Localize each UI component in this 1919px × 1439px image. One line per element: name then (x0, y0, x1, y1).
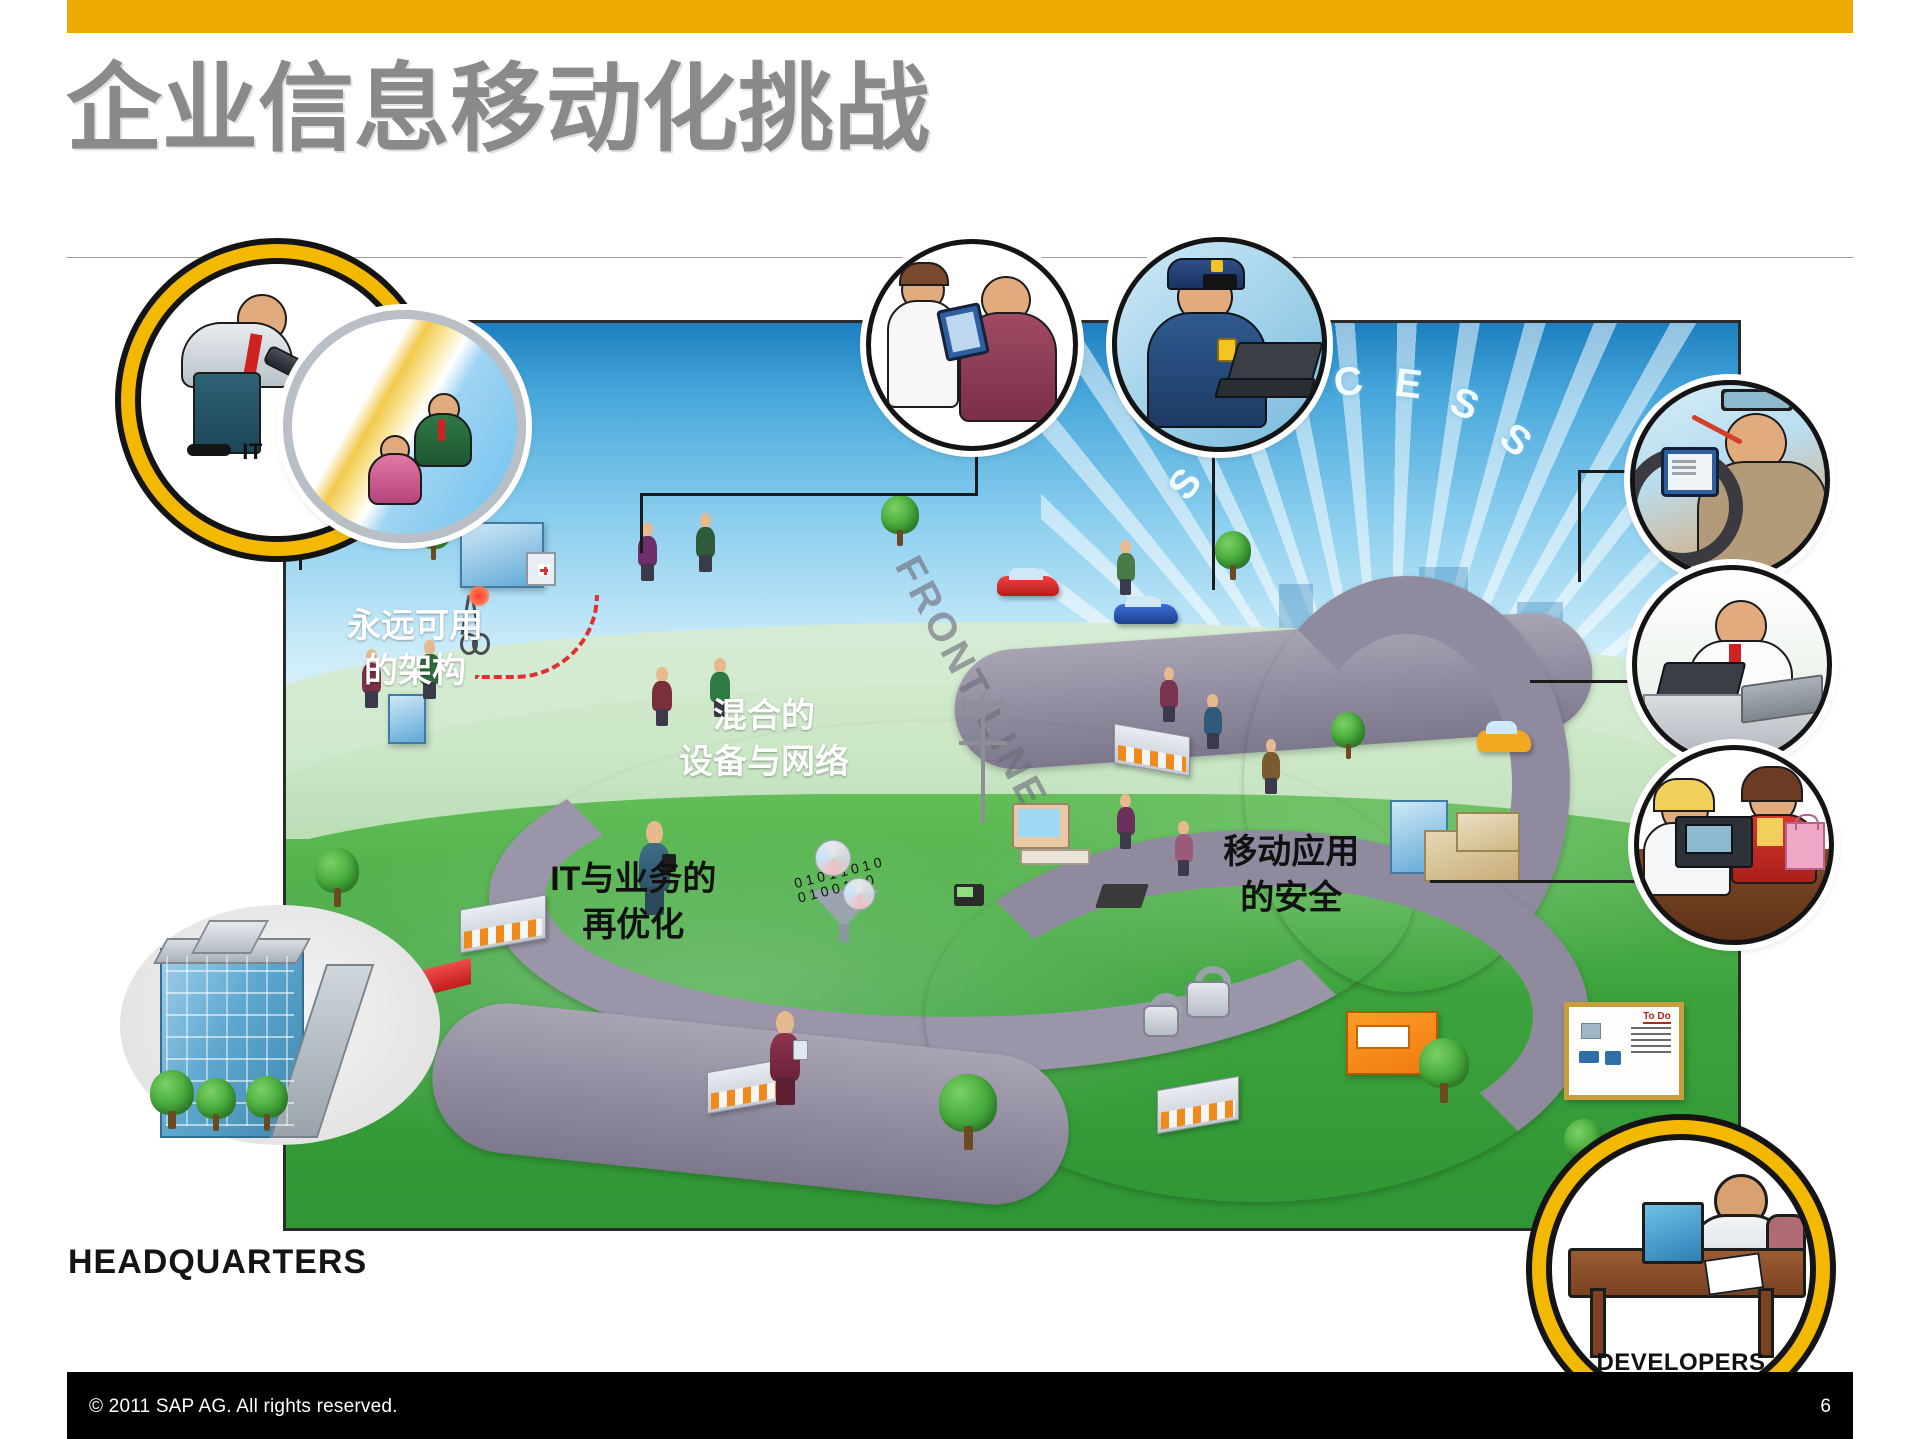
label-it-business-reoptimization: IT与业务的 再优化 (518, 857, 748, 949)
whiteboard: To Do (1564, 1002, 1684, 1100)
bubble-warehouse-worker[interactable] (1632, 565, 1832, 765)
connector-healthcare-drop (640, 493, 643, 553)
page-number: 6 (1820, 1396, 1831, 1418)
crowd-person (1114, 540, 1138, 594)
police-car (1114, 604, 1178, 624)
red-sports-car (997, 576, 1059, 596)
crowd-person (1259, 739, 1283, 793)
connector-healthcare-horizontal (640, 493, 978, 496)
bubble-police[interactable] (1112, 237, 1327, 452)
desk-leg-right (1758, 1288, 1774, 1358)
mobile-field-worker (765, 1011, 805, 1103)
page-title: 企业信息移动化挑战 (66, 60, 930, 161)
magnified-person-green (412, 393, 470, 465)
tree (1331, 712, 1365, 758)
tree (246, 1076, 288, 1130)
bubble-developers[interactable]: DEVELOPERS (1546, 1134, 1816, 1404)
crowd-person (634, 522, 660, 580)
label-mixed-devices-networks: 混合的 设备与网络 (649, 694, 879, 786)
headquarters-label: HEADQUARTERS (68, 1243, 367, 1282)
tree (196, 1078, 236, 1130)
crowd-person (1157, 667, 1181, 721)
bubble-magnifier[interactable] (283, 310, 526, 543)
small-office-building (388, 694, 426, 744)
cd-disc-top (815, 840, 851, 876)
top-accent-bar (67, 0, 1853, 33)
pda-device (954, 884, 984, 906)
crowd-person (693, 513, 719, 571)
padlock-small (1143, 993, 1175, 1037)
label-mobile-app-security: 移动应用 的安全 (1186, 830, 1396, 922)
pos-terminal (1675, 816, 1753, 868)
bubble-retail-checkout[interactable] (1634, 745, 1834, 945)
distribution-center (1390, 794, 1520, 890)
delivery-truck (1477, 730, 1531, 752)
shopping-bag (1785, 822, 1825, 870)
tree (1215, 531, 1251, 579)
laptop-device (1095, 884, 1149, 908)
padlock-large (1186, 966, 1226, 1018)
magnified-person-pink (366, 435, 420, 503)
label-always-on-architecture: 永远可用 的架构 (315, 604, 515, 696)
slide-footer: © 2011 SAP AG. All rights reserved. 6 (67, 1372, 1853, 1439)
tree (881, 495, 919, 545)
tree (939, 1074, 997, 1148)
whiteboard-heading: To Do (1643, 1011, 1671, 1024)
desk-leg-left (1590, 1288, 1606, 1358)
connector-police (1212, 438, 1215, 590)
copyright-text: © 2011 SAP AG. All rights reserved. (89, 1396, 398, 1418)
cell-tower (954, 694, 1012, 824)
rearview-mirror (1721, 389, 1793, 411)
tree (315, 848, 359, 906)
data-funnel: 0 1 0 1 1 0 1 0 0 1 0 0 1 1 0 (809, 866, 879, 934)
police-laptop (1217, 342, 1313, 394)
slide-canvas: 企业信息移动化挑战 S U C C E S S (0, 0, 1919, 1439)
tree (150, 1070, 194, 1128)
crowd-person (1114, 794, 1138, 848)
connector-driver-drop (1578, 470, 1581, 582)
developer-monitor (1642, 1202, 1704, 1264)
desk-papers (1704, 1252, 1764, 1295)
driver-pda (1661, 447, 1719, 497)
bubble-healthcare[interactable] (866, 239, 1078, 451)
cd-disc-bottom (843, 878, 875, 910)
desktop-computer (1012, 803, 1098, 865)
crowd-person (1201, 694, 1225, 748)
bubble-driver[interactable] (1630, 380, 1830, 580)
hospital-building (460, 522, 544, 588)
tree (1419, 1038, 1469, 1102)
